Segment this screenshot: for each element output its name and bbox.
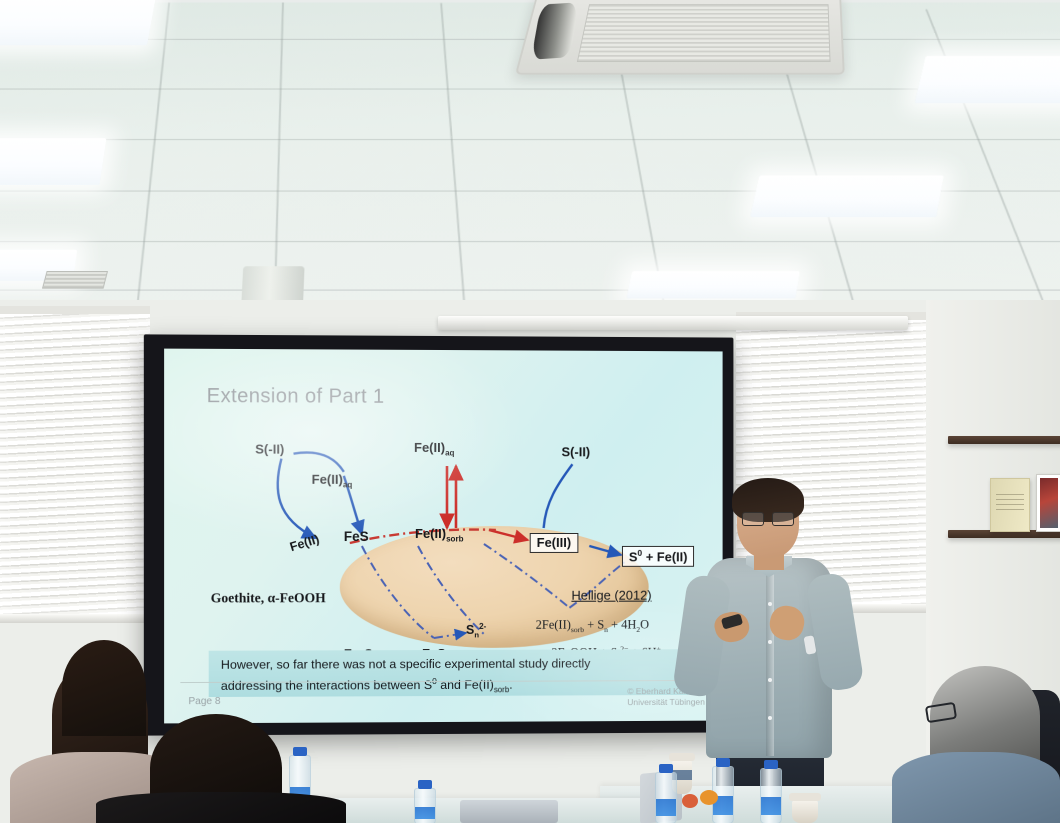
projection-screen: Extension of Part 1 bbox=[144, 334, 734, 735]
slide-page-number: Page 8 bbox=[188, 696, 220, 707]
audience-torso-4 bbox=[892, 752, 1060, 823]
presentation-slide: Extension of Part 1 bbox=[164, 349, 722, 724]
wall-shelf-upper bbox=[948, 436, 1060, 444]
node-fe2-sorb: Fe(II)sorb bbox=[415, 526, 463, 544]
mineral-label: Goethite, α-FeOOH bbox=[211, 590, 326, 606]
window-blinds-left bbox=[0, 306, 150, 618]
fruit-orange bbox=[700, 790, 718, 805]
fruit-apple bbox=[682, 794, 698, 808]
water-bottle-1 bbox=[655, 772, 677, 823]
audience-torso-3 bbox=[96, 792, 346, 823]
node-fe3-box: Fe(III) bbox=[530, 533, 578, 553]
equation-line-1: 2Fe(II)sorb + Sn + 4H2O bbox=[536, 616, 661, 640]
note-line-1: However, so far there was not a specific… bbox=[221, 656, 591, 671]
drop-ceiling bbox=[0, 3, 1060, 330]
water-bottle-5 bbox=[414, 788, 436, 823]
copyright-line-2: Universität Tübingen bbox=[627, 696, 705, 706]
ceiling-vent-icon bbox=[42, 271, 108, 289]
projection-screen-case bbox=[438, 316, 908, 330]
node-s2-right: S(-II) bbox=[562, 444, 591, 459]
book-on-shelf bbox=[990, 478, 1030, 532]
citation-link[interactable]: Hellige (2012) bbox=[571, 588, 651, 603]
note-sub: sorb bbox=[494, 685, 509, 694]
coffee-cup-2 bbox=[792, 800, 818, 823]
node-s2-left: S(-II) bbox=[255, 442, 284, 457]
ac-cassette-unit bbox=[515, 0, 845, 75]
presenter-shirt bbox=[706, 558, 832, 758]
node-fes: FeS bbox=[344, 529, 369, 544]
seminar-room-photo: Extension of Part 1 bbox=[0, 0, 1060, 823]
node-sn2: Sn2- bbox=[466, 622, 486, 640]
node-s0-fe2-box: S0 + Fe(II) bbox=[622, 546, 694, 567]
slide-note-text: However, so far there was not a specific… bbox=[221, 655, 680, 699]
picture-frame bbox=[1036, 474, 1060, 532]
slide-note-box: However, so far there was not a specific… bbox=[209, 649, 688, 697]
laptop-2 bbox=[460, 800, 558, 823]
presenter-glasses bbox=[742, 512, 794, 524]
node-fe2-aq-left: Fe(II)aq bbox=[312, 472, 353, 490]
node-fe2-aq-top: Fe(II)aq bbox=[414, 440, 454, 458]
water-bottle-3 bbox=[760, 768, 782, 823]
audience-head-2 bbox=[62, 640, 146, 736]
